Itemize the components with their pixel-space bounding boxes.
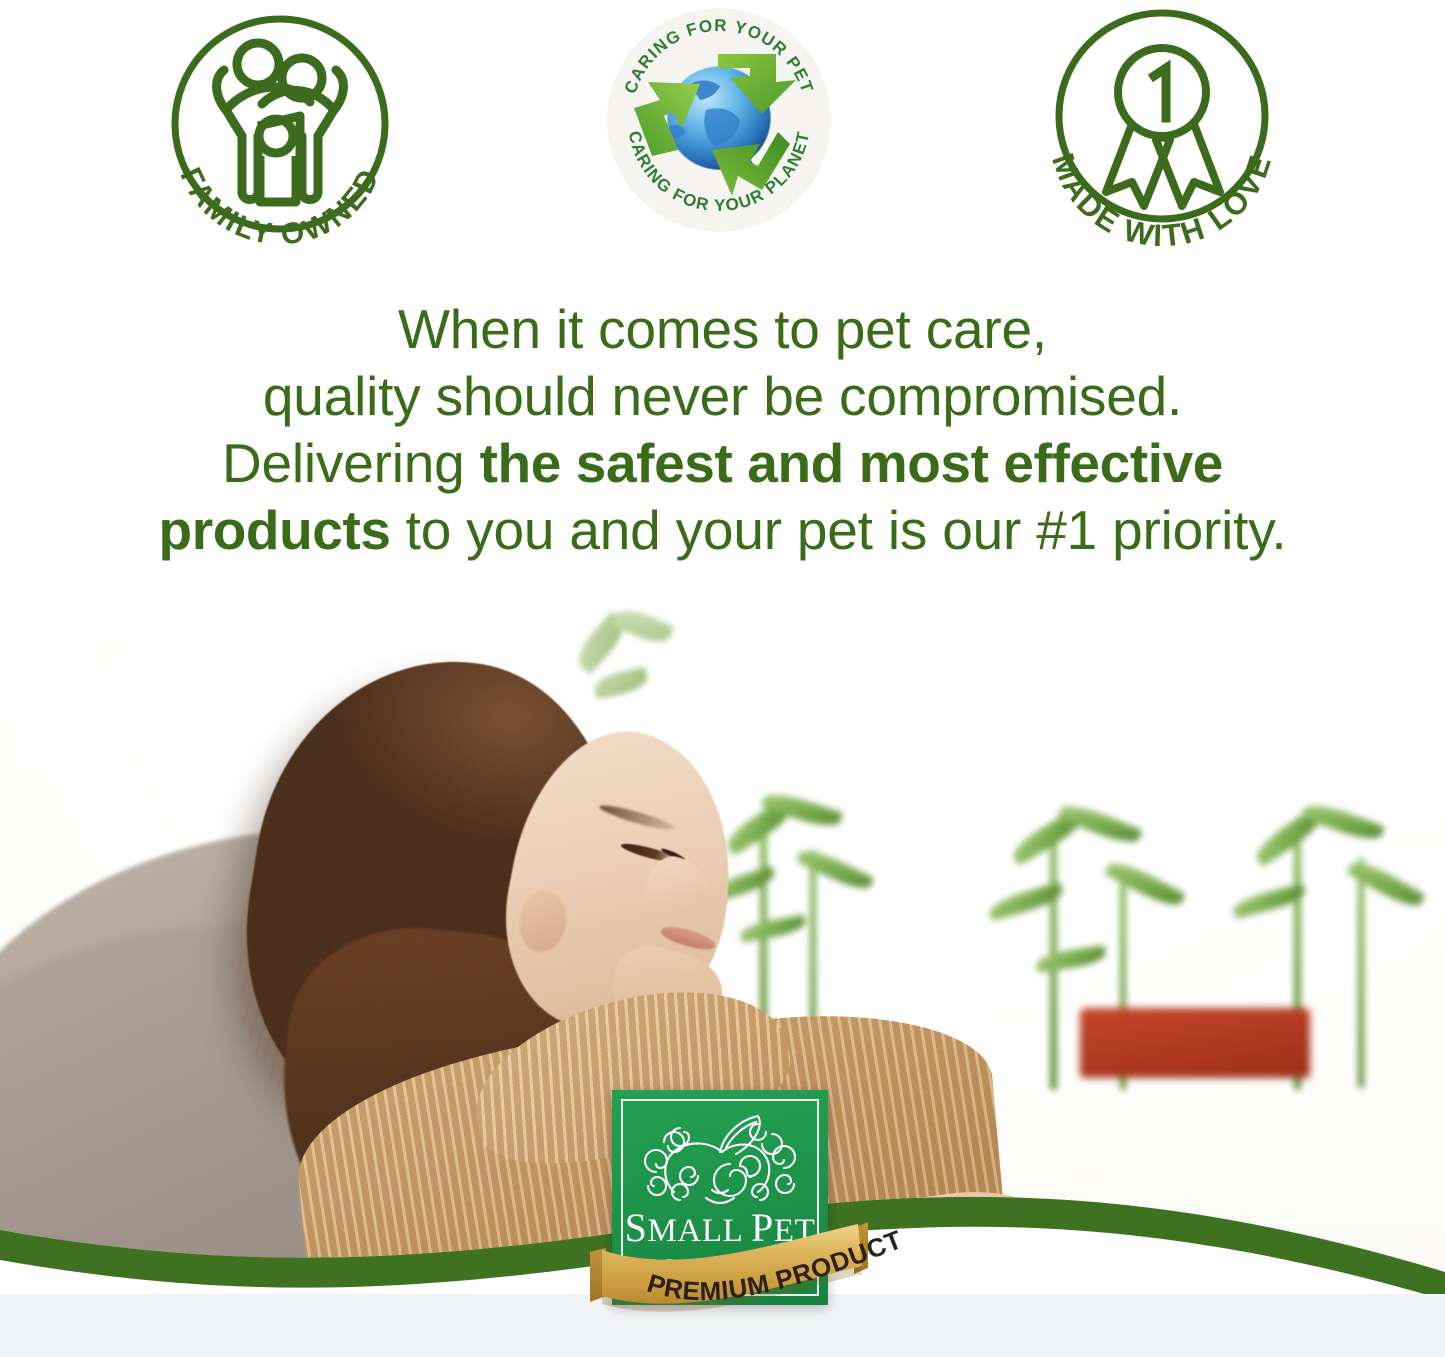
headline-line-2: quality should never be compromised. xyxy=(0,363,1445,430)
promo-banner: FAMILY OWNED xyxy=(0,0,1445,1357)
family-hands-icon: FAMILY OWNED xyxy=(150,6,410,256)
headline-line-3: Delivering the safest and most effective xyxy=(0,430,1445,497)
plant-top-sprig xyxy=(560,610,720,750)
headline-line-3-emphasis: the safest and most effective xyxy=(480,432,1223,494)
headline-line-4-emphasis: products xyxy=(159,499,391,561)
headline: When it comes to pet care, quality shoul… xyxy=(0,296,1445,564)
headline-line-1: When it comes to pet care, xyxy=(0,296,1445,363)
brand-logo-badge: SMALL PET •• SELECT •• xyxy=(612,1090,828,1305)
trust-badge-row: FAMILY OWNED xyxy=(0,0,1445,265)
headline-line-4: products to you and your pet is our #1 p… xyxy=(0,497,1445,564)
award-ribbon-number-one-icon: MADE WITH LOVE xyxy=(1028,6,1296,256)
badge-caring-planet: CARING FOR YOUR PET CARING FOR YOUR PLAN… xyxy=(606,6,832,234)
badge-made-with-love: MADE WITH LOVE xyxy=(1028,6,1296,256)
premium-ribbon xyxy=(572,1218,872,1313)
badge-family-owned: FAMILY OWNED xyxy=(150,6,410,256)
terracotta-pot xyxy=(1080,1008,1310,1078)
headline-line-3-plain: Delivering xyxy=(222,432,480,494)
recycle-globe-icon: CARING FOR YOUR PET CARING FOR YOUR PLAN… xyxy=(606,6,832,234)
badge-family-owned-label: FAMILY OWNED xyxy=(173,162,386,251)
headline-line-4-plain: to you and your pet is our #1 priority. xyxy=(391,499,1287,561)
rabbit-filigree-icon xyxy=(612,1094,828,1214)
